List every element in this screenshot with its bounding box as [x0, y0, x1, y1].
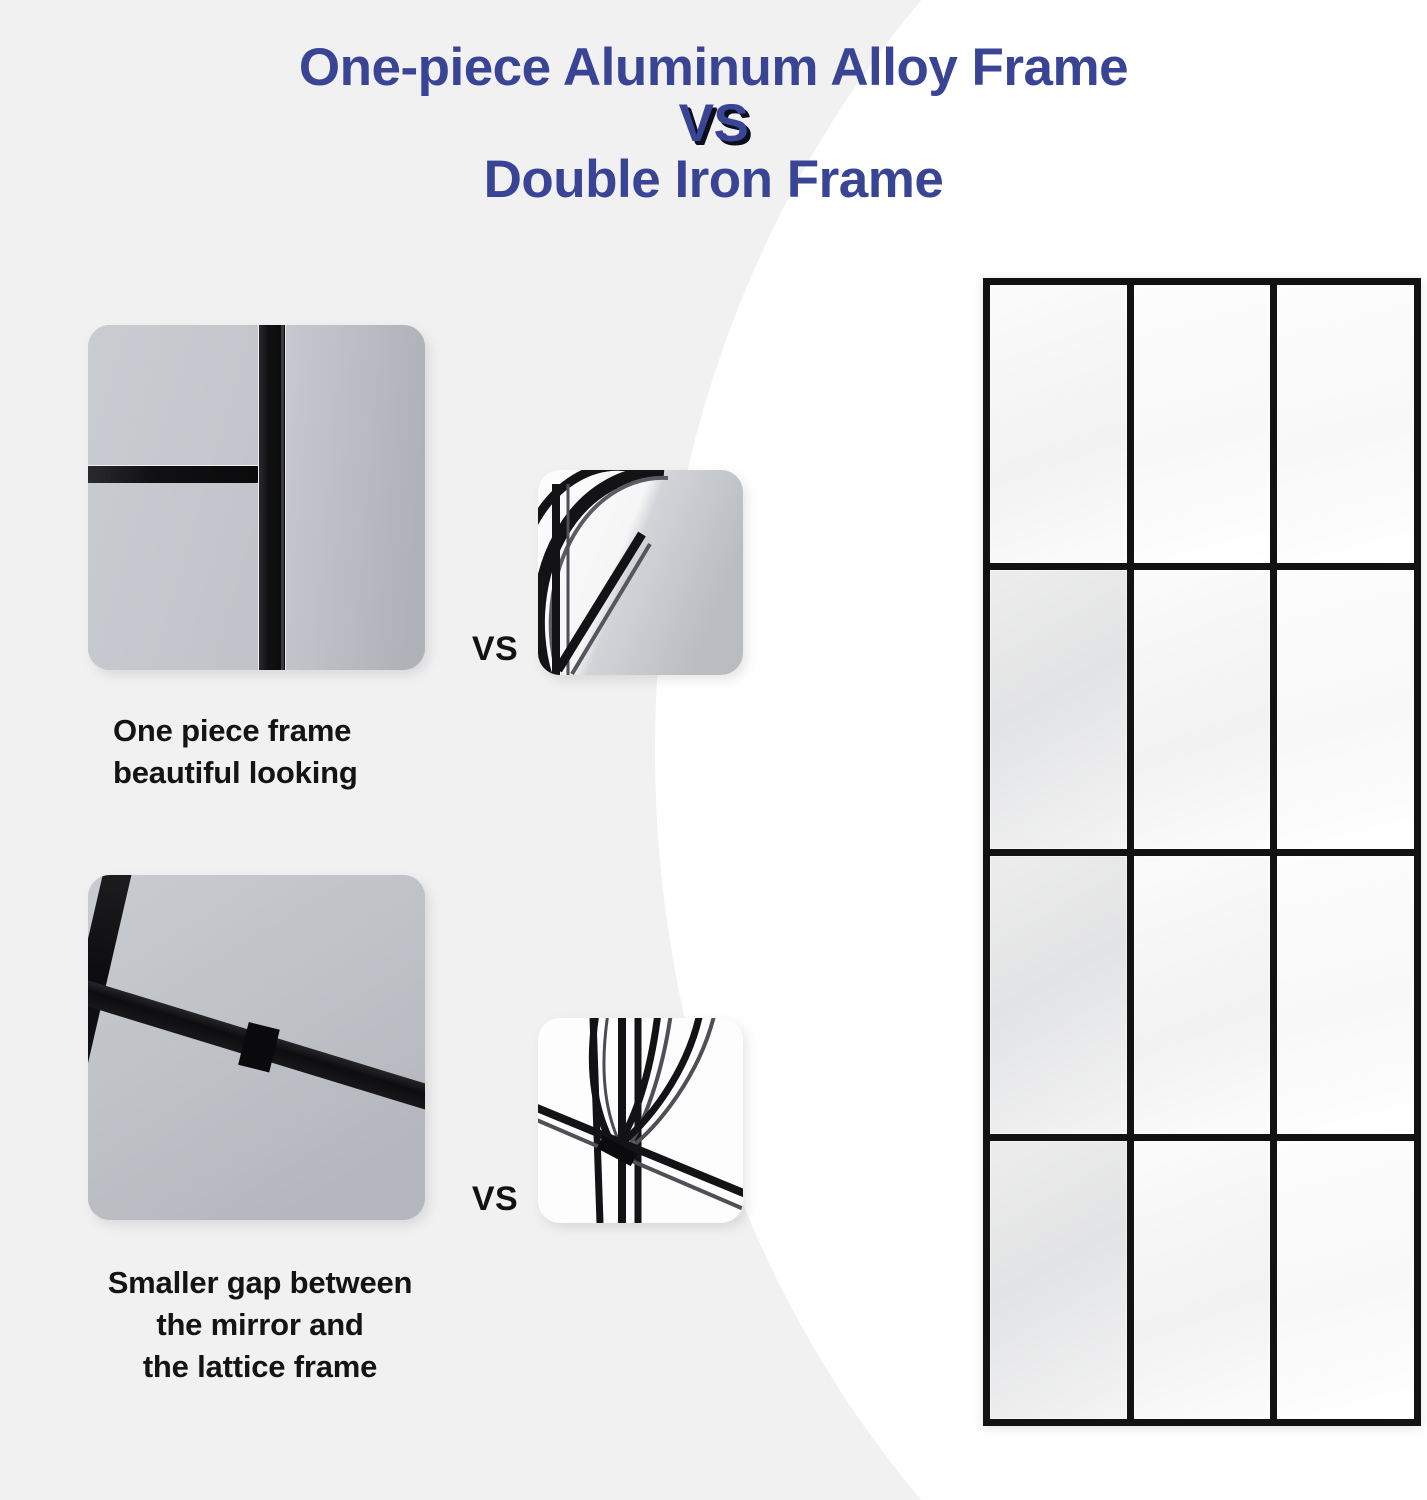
title-line-1: One-piece Aluminum Alloy Frame	[0, 40, 1427, 96]
title-vs-label: VS	[0, 96, 1427, 152]
photo-card-lattice-cross	[88, 875, 425, 1220]
caption-line-1: One piece frame	[113, 710, 533, 752]
mirror-pane	[1134, 285, 1271, 563]
mirror-pane	[1134, 570, 1271, 848]
infographic-page: One-piece Aluminum Alloy Frame VS Double…	[0, 0, 1427, 1500]
one-piece-frame-photo	[88, 325, 425, 670]
caption-line-2: the mirror and	[60, 1304, 460, 1346]
vs-separator-row-2: VS	[452, 1180, 538, 1219]
mirror-pane	[1277, 570, 1414, 848]
page-title: One-piece Aluminum Alloy Frame VS Double…	[0, 40, 1427, 208]
caption-one-piece-frame: One piece frame beautiful looking	[113, 710, 533, 794]
vs-separator-row-1: VS	[452, 630, 538, 669]
mirror-pane	[990, 285, 1127, 563]
photo-card-double-iron-arch	[538, 470, 743, 675]
caption-line-2: beautiful looking	[113, 752, 533, 794]
windowpane-mirror-product	[983, 278, 1421, 1426]
mirror-pane	[990, 856, 1127, 1134]
caption-line-1: Smaller gap between	[60, 1262, 460, 1304]
mirror-pane	[1277, 285, 1414, 563]
mirror-pane	[1134, 856, 1271, 1134]
mirror-pane	[1277, 856, 1414, 1134]
double-iron-rods-photo	[538, 1018, 743, 1223]
photo-card-double-iron-rods	[538, 1018, 743, 1223]
double-iron-arch-photo	[538, 470, 743, 675]
mirror-pane	[990, 570, 1127, 848]
lattice-cross-photo	[88, 875, 425, 1220]
caption-line-3: the lattice frame	[60, 1346, 460, 1388]
caption-lattice-gap: Smaller gap between the mirror and the l…	[60, 1262, 460, 1388]
photo-card-one-piece-frame	[88, 325, 425, 670]
mirror-pane	[990, 1141, 1127, 1419]
mirror-pane	[1134, 1141, 1271, 1419]
mirror-pane	[1277, 1141, 1414, 1419]
title-line-2: Double Iron Frame	[0, 152, 1427, 208]
